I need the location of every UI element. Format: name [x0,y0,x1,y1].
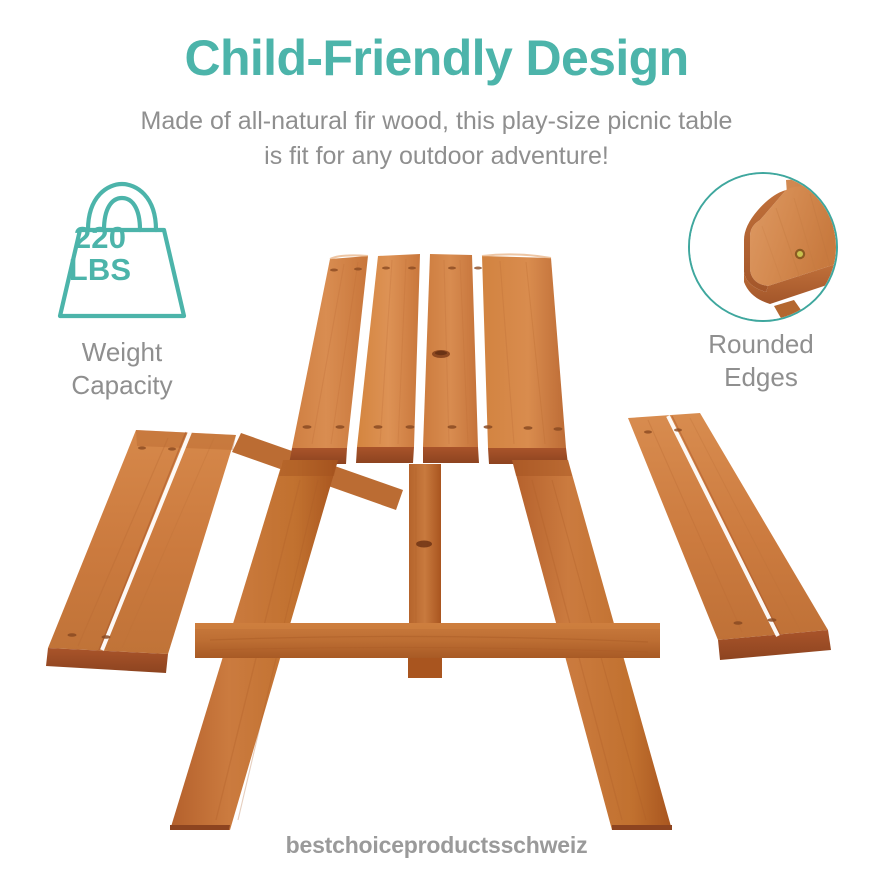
leg-foot-left [170,825,230,830]
tabletop [289,254,568,464]
weight-value: 220 [74,220,126,255]
rounded-edges-closeup [690,174,836,320]
feature-rounded-edges: Rounded Edges [655,172,855,394]
rounded-edges-line-1: Rounded [655,328,867,361]
page-subtitle: Made of all-natural fir wood, this play-… [0,104,873,173]
rounded-edges-label: Rounded Edges [655,328,867,393]
page-title: Child-Friendly Design [0,32,873,85]
rounded-edges-line-2: Edges [655,361,867,394]
weight-label-line-1: Weight [22,336,222,369]
leg-foot-right [612,825,672,830]
bench-right [628,413,831,660]
watermark: bestchoiceproductsschweiz [0,832,873,859]
product-infographic: Child-Friendly Design Made of all-natura… [0,0,873,873]
weight-value-group: 220 LBS [30,222,170,285]
rounded-edges-circle [688,172,838,322]
weight-unit: LBS [30,254,170,286]
weight-capacity-label: Weight Capacity [22,336,222,401]
feature-weight-capacity: 220 LBS Weight Capacity [30,178,250,393]
subtitle-line-2: is fit for any outdoor adventure! [0,139,873,174]
subtitle-line-1: Made of all-natural fir wood, this play-… [0,104,873,139]
weight-label-line-2: Capacity [22,369,222,402]
